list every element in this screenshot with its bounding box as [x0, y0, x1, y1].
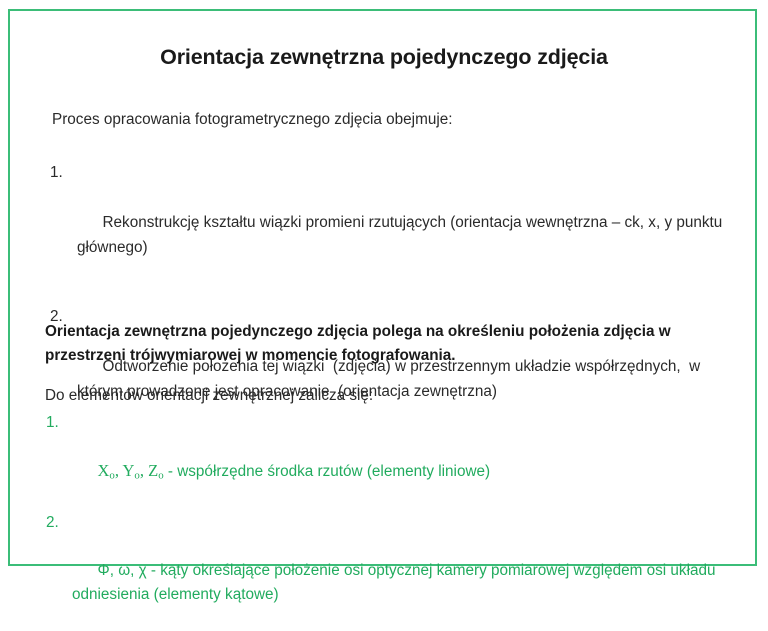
list-item-text: Rekonstrukcję kształtu wiązki promieni r…	[77, 214, 727, 256]
linear-elements-symbols: Xo, Yo, Zo	[98, 461, 164, 480]
definition-paragraph: Orientacja zewnętrzna pojedynczego zdjęc…	[45, 320, 745, 368]
page-title: Orientacja zewnętrzna pojedynczego zdjęc…	[0, 45, 768, 70]
list-item-text: - kąty określające położenie osi optyczn…	[72, 562, 720, 603]
list-item-number: 1.	[50, 160, 63, 185]
list-item-number: 1.	[46, 411, 59, 435]
list-item: 1. Rekonstrukcję kształtu wiązki promien…	[44, 160, 744, 285]
list-item-number: 2.	[46, 511, 59, 535]
list-item: 2. Φ, ω, χ - kąty określające położenie …	[44, 511, 744, 631]
exterior-orientation-elements-list: 1. Xo, Yo, Zo - współrzędne środka rzutó…	[44, 411, 744, 631]
intro-line: Proces opracowania fotogrametrycznego zd…	[52, 111, 452, 129]
lead-in-line: Do elementów orientacji zewnętrznej zali…	[45, 387, 373, 405]
list-item: 1. Xo, Yo, Zo - współrzędne środka rzutó…	[44, 411, 744, 511]
list-item-text: - współrzędne środka rzutów (elementy li…	[164, 463, 490, 480]
angular-elements-symbols: Φ, ω, χ	[98, 562, 147, 579]
slide-canvas: Orientacja zewnętrzna pojedynczego zdjęc…	[0, 0, 768, 576]
